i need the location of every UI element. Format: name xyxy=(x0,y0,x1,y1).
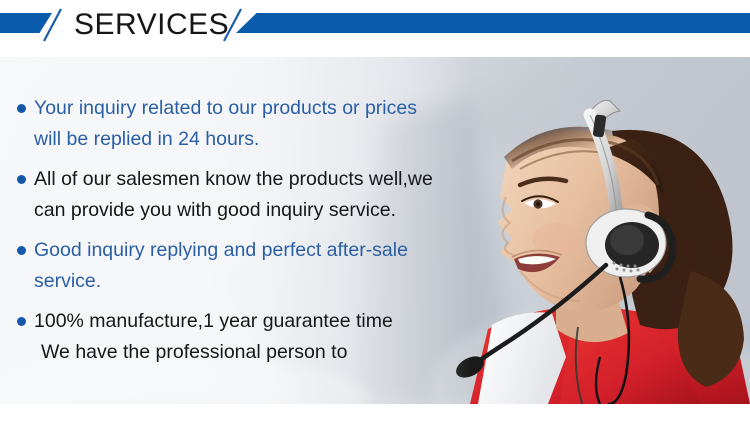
bullet-line-1: Good inquiry replying and perfect after-… xyxy=(34,239,408,261)
list-item: 100% manufacture,1 year guarantee time W… xyxy=(0,306,470,368)
bullet-line-2: will be replied in 24 hours. xyxy=(34,124,470,155)
page-title: SERVICES xyxy=(74,8,229,42)
bullet-dot-icon xyxy=(17,104,26,113)
bullet-line-2: can provide you with good inquiry servic… xyxy=(34,195,470,226)
bullet-dot-icon xyxy=(17,317,26,326)
bullet-line-1: Your inquiry related to our products or … xyxy=(34,97,417,119)
banner-header: SERVICES xyxy=(0,0,750,57)
list-item: Good inquiry replying and perfect after-… xyxy=(0,235,470,297)
services-banner: SERVICES xyxy=(0,0,750,422)
bullet-line-1: All of our salesmen know the products we… xyxy=(34,168,433,190)
right-blue-bar xyxy=(236,13,750,33)
services-bullet-list: Your inquiry related to our products or … xyxy=(0,57,470,404)
list-item: All of our salesmen know the products we… xyxy=(0,164,470,226)
bullet-dot-icon xyxy=(17,246,26,255)
bottom-white-strip xyxy=(0,404,750,422)
bullet-line-1: 100% manufacture,1 year guarantee time xyxy=(34,310,393,332)
right-diagonal-accent-icon xyxy=(222,8,244,42)
list-item: Your inquiry related to our products or … xyxy=(0,93,470,155)
bullet-line-2: service. xyxy=(34,266,470,297)
bullet-line-2: We have the professional person to xyxy=(34,337,470,368)
bullet-dot-icon xyxy=(17,175,26,184)
left-diagonal-accent-icon xyxy=(42,8,64,42)
